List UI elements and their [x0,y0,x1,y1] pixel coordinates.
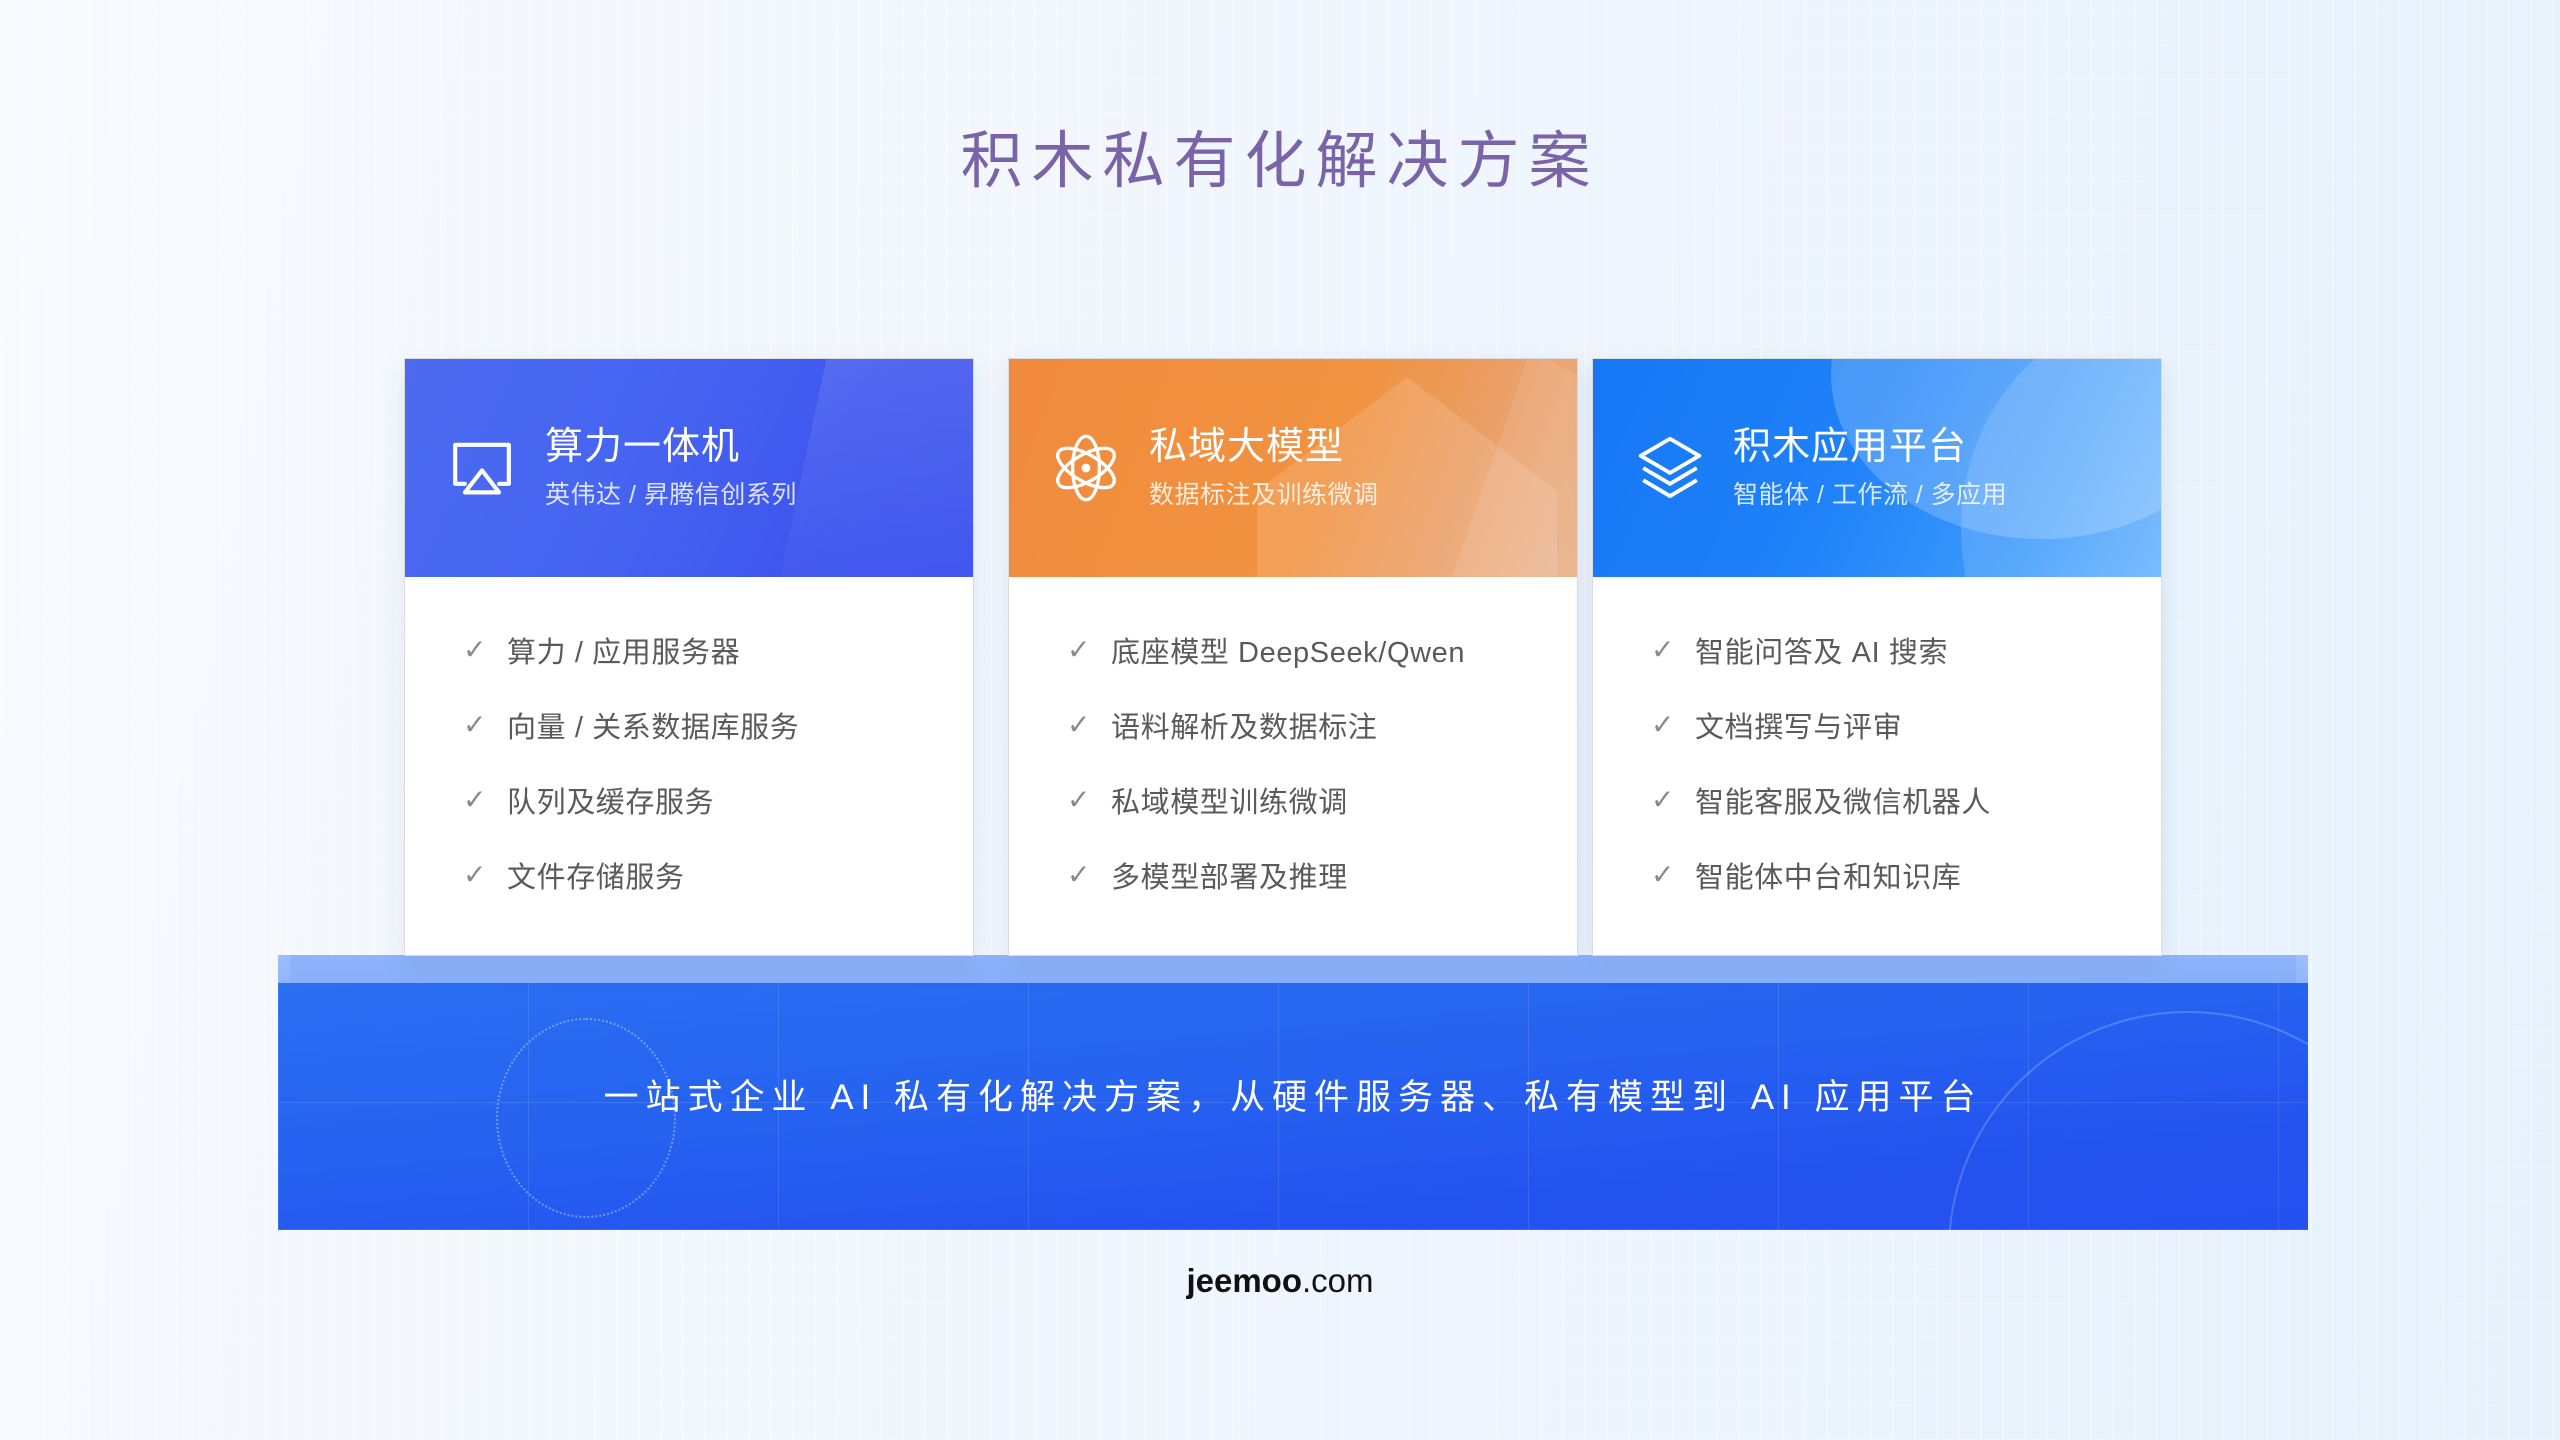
check-icon: ✓ [1651,786,1695,814]
check-icon: ✓ [1067,636,1111,664]
card-private-llm[interactable]: 私域大模型 数据标注及训练微调 ✓ 底座模型 DeepSeek/Qwen ✓ 语… [1008,358,1578,956]
list-item-label: 多模型部署及推理 [1111,854,1348,896]
list-item: ✓ 多模型部署及推理 [1067,854,1577,896]
card-body: ✓ 智能问答及 AI 搜索 ✓ 文档撰写与评审 ✓ 智能客服及微信机器人 ✓ 智… [1593,577,2161,896]
card-header: 算力一体机 英伟达 / 昇腾信创系列 [405,359,973,577]
footer-logo: jeemoo.com [0,1262,2560,1300]
header-decoration-secondary [1427,359,1577,577]
pedestal-top-face [278,955,2308,983]
check-icon: ✓ [1067,861,1111,889]
brand-name: jeemoo [1186,1262,1302,1299]
check-icon: ✓ [463,636,507,664]
check-icon: ✓ [463,786,507,814]
check-icon: ✓ [463,711,507,739]
list-item: ✓ 文档撰写与评审 [1651,704,2161,746]
card-body: ✓ 算力 / 应用服务器 ✓ 向量 / 关系数据库服务 ✓ 队列及缓存服务 ✓ … [405,577,973,896]
list-item: ✓ 语料解析及数据标注 [1067,704,1577,746]
list-item-label: 队列及缓存服务 [507,779,714,821]
card-compute-appliance[interactable]: 算力一体机 英伟达 / 昇腾信创系列 ✓ 算力 / 应用服务器 ✓ 向量 / 关… [404,358,974,956]
pedestal-platform: 一站式企业 AI 私有化解决方案，从硬件服务器、私有模型到 AI 应用平台 [278,955,2308,1230]
check-icon: ✓ [463,861,507,889]
list-item-label: 智能问答及 AI 搜索 [1695,629,1948,671]
list-item: ✓ 智能客服及微信机器人 [1651,779,2161,821]
list-item: ✓ 智能体中台和知识库 [1651,854,2161,896]
list-item: ✓ 私域模型训练微调 [1067,779,1577,821]
list-item-label: 文档撰写与评审 [1695,704,1902,746]
list-item-label: 智能体中台和知识库 [1695,854,1961,896]
check-icon: ✓ [1651,636,1695,664]
card-app-platform[interactable]: 积木应用平台 智能体 / 工作流 / 多应用 ✓ 智能问答及 AI 搜索 ✓ 文… [1592,358,2162,956]
list-item-label: 算力 / 应用服务器 [507,629,740,671]
list-item: ✓ 文件存储服务 [463,854,973,896]
card-subtitle: 数据标注及训练微调 [1149,475,1379,511]
check-icon: ✓ [1067,711,1111,739]
list-item: ✓ 底座模型 DeepSeek/Qwen [1067,629,1577,671]
list-item-label: 文件存储服务 [507,854,685,896]
layers-stack-icon [1631,429,1709,507]
card-header-text: 积木应用平台 智能体 / 工作流 / 多应用 [1733,425,2007,512]
card-title: 私域大模型 [1149,425,1379,470]
list-item: ✓ 向量 / 关系数据库服务 [463,704,973,746]
check-icon: ✓ [1651,861,1695,889]
airplay-monitor-icon [443,429,521,507]
list-item: ✓ 算力 / 应用服务器 [463,629,973,671]
card-subtitle: 英伟达 / 昇腾信创系列 [545,475,797,511]
list-item-label: 私域模型训练微调 [1111,779,1348,821]
card-title: 算力一体机 [545,425,797,470]
brand-tld: .com [1302,1262,1374,1299]
list-item: ✓ 队列及缓存服务 [463,779,973,821]
card-subtitle: 智能体 / 工作流 / 多应用 [1733,475,2007,511]
list-item-label: 底座模型 DeepSeek/Qwen [1111,629,1465,671]
list-item-label: 向量 / 关系数据库服务 [507,704,799,746]
card-header-text: 算力一体机 英伟达 / 昇腾信创系列 [545,425,797,512]
card-header: 积木应用平台 智能体 / 工作流 / 多应用 [1593,359,2161,577]
header-decoration [767,359,973,577]
list-item: ✓ 智能问答及 AI 搜索 [1651,629,2161,671]
card-header: 私域大模型 数据标注及训练微调 [1009,359,1577,577]
pedestal-front-face: 一站式企业 AI 私有化解决方案，从硬件服务器、私有模型到 AI 应用平台 [278,983,2308,1230]
atom-icon [1047,429,1125,507]
list-item-label: 语料解析及数据标注 [1111,704,1377,746]
list-item-label: 智能客服及微信机器人 [1695,779,1991,821]
card-body: ✓ 底座模型 DeepSeek/Qwen ✓ 语料解析及数据标注 ✓ 私域模型训… [1009,577,1577,896]
check-icon: ✓ [1651,711,1695,739]
card-title: 积木应用平台 [1733,425,2007,470]
page-title: 积木私有化解决方案 [0,110,2560,200]
pedestal-caption: 一站式企业 AI 私有化解决方案，从硬件服务器、私有模型到 AI 应用平台 [398,1073,2188,1123]
card-header-text: 私域大模型 数据标注及训练微调 [1149,425,1379,512]
feature-cards: 算力一体机 英伟达 / 昇腾信创系列 ✓ 算力 / 应用服务器 ✓ 向量 / 关… [0,358,2560,958]
check-icon: ✓ [1067,786,1111,814]
